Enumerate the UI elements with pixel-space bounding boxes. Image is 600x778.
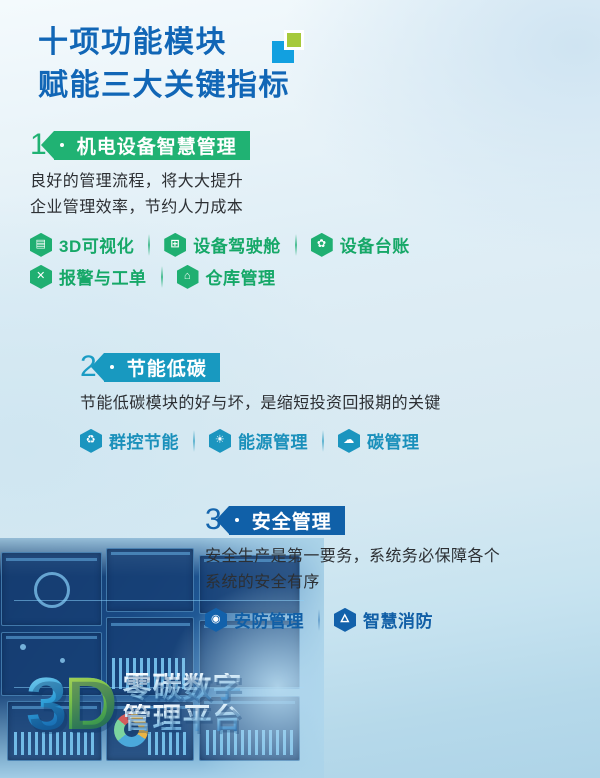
energy-bulb-icon: ☀: [209, 429, 231, 453]
feature-divider: [148, 234, 150, 256]
feature-item-3d-visualization[interactable]: ▤ 3D可视化: [30, 232, 134, 257]
section-2-body: 节能低碳模块的好与坏，是缩短投资回报期的关键: [80, 391, 441, 417]
section-3-body-line-1: 安全生产是第一要务，系统务必保障各个: [205, 544, 500, 570]
poster-canvas: 十项功能模块 赋能三大关键指标 1 机电设备智慧管理 良好的管理流程，将大大提升…: [0, 0, 600, 778]
section-3-title: 安全管理: [252, 507, 332, 534]
section-1-title: 机电设备智慧管理: [77, 132, 237, 159]
section-2-header: 2 节能低碳: [80, 352, 441, 382]
section-1-body-line-2: 企业管理效率，节约人力成本: [30, 195, 410, 221]
feature-label: 安防管理: [234, 607, 304, 632]
feature-item-carbon-management[interactable]: ☁ 碳管理: [338, 428, 420, 453]
security-shield-icon: ◉: [205, 608, 227, 632]
section-2: 2 节能低碳 节能低碳模块的好与坏，是缩短投资回报期的关键 ♻ 群控节能 ☀ 能…: [80, 352, 441, 457]
poster-header: 十项功能模块 赋能三大关键指标: [38, 22, 290, 107]
section-3-body-line-2: 系统的安全有序: [205, 570, 500, 596]
feature-label: 智慧消防: [363, 607, 433, 632]
alarm-workorder-icon: ✕: [30, 265, 52, 289]
feature-label: 仓库管理: [206, 264, 276, 289]
warehouse-icon: ⌂: [177, 265, 199, 289]
feature-divider: [318, 609, 320, 631]
section-2-features: ♻ 群控节能 ☀ 能源管理 ☁ 碳管理: [80, 425, 441, 457]
feature-label: 碳管理: [367, 428, 420, 453]
section-2-title: 节能低碳: [127, 354, 207, 381]
section-2-body-line-1: 节能低碳模块的好与坏，是缩短投资回报期的关键: [80, 391, 441, 417]
section-1-features: ▤ 3D可视化 ⊞ 设备驾驶舱 ✿ 设备台账 ✕ 报警与工单: [30, 229, 410, 293]
feature-label: 3D可视化: [59, 232, 134, 257]
feature-item-equipment-ledger[interactable]: ✿ 设备台账: [311, 232, 410, 257]
feature-row: ◉ 安防管理 🜂 智慧消防: [205, 604, 500, 636]
section-3: 3 安全管理 安全生产是第一要务，系统务必保障各个 系统的安全有序 ◉ 安防管理…: [205, 505, 500, 636]
slogan-line-1: 零碳数字: [123, 673, 243, 704]
slogan-line-2: 管理平台: [123, 704, 243, 735]
carbon-cloud-icon: ☁: [338, 429, 360, 453]
feature-label: 能源管理: [238, 428, 308, 453]
feature-label: 群控节能: [109, 428, 179, 453]
feature-divider: [322, 430, 324, 452]
brand-squares-logo-icon: [272, 30, 306, 64]
feature-item-smart-firefighting[interactable]: 🜂 智慧消防: [334, 607, 433, 632]
logo-letter-d: D: [64, 662, 114, 745]
3d-logo-mark: 3D: [26, 672, 115, 736]
cube-3d-icon: ▤: [30, 233, 52, 257]
feature-item-alarm-workorder[interactable]: ✕ 报警与工单: [30, 264, 147, 289]
logo-digit-3: 3: [26, 662, 64, 745]
feature-divider: [161, 266, 163, 288]
smart-firefighting-icon: 🜂: [334, 608, 356, 632]
section-1-body-line-1: 良好的管理流程，将大大提升: [30, 169, 410, 195]
feature-item-group-control[interactable]: ♻ 群控节能: [80, 428, 179, 453]
feature-row: ✕ 报警与工单 ⌂ 仓库管理: [30, 261, 410, 293]
title-line-2: 赋能三大关键指标: [38, 65, 290, 108]
feature-label: 报警与工单: [59, 264, 147, 289]
section-3-title-banner: 安全管理: [229, 506, 345, 535]
section-1-body: 良好的管理流程，将大大提升 企业管理效率，节约人力成本: [30, 169, 410, 221]
section-3-body: 安全生产是第一要务，系统务必保障各个 系统的安全有序: [205, 544, 500, 596]
feature-label: 设备驾驶舱: [193, 232, 281, 257]
feature-item-security-management[interactable]: ◉ 安防管理: [205, 607, 304, 632]
feature-item-equipment-cockpit[interactable]: ⊞ 设备驾驶舱: [164, 232, 281, 257]
section-2-title-banner: 节能低碳: [104, 353, 220, 382]
section-3-header: 3 安全管理: [205, 505, 500, 535]
title-line-1: 十项功能模块: [38, 22, 290, 65]
feature-item-warehouse[interactable]: ⌂ 仓库管理: [177, 264, 276, 289]
section-1: 1 机电设备智慧管理 良好的管理流程，将大大提升 企业管理效率，节约人力成本 ▤…: [30, 130, 410, 293]
footer-slogan: 零碳数字 管理平台: [123, 673, 243, 734]
feature-item-energy-management[interactable]: ☀ 能源管理: [209, 428, 308, 453]
footer-brand-lockup: 3D 零碳数字 管理平台: [26, 672, 243, 736]
feature-divider: [295, 234, 297, 256]
section-1-header: 1 机电设备智慧管理: [30, 130, 410, 160]
dashboard-cockpit-icon: ⊞: [164, 233, 186, 257]
feature-label: 设备台账: [340, 232, 410, 257]
section-1-title-banner: 机电设备智慧管理: [54, 131, 250, 160]
section-3-features: ◉ 安防管理 🜂 智慧消防: [205, 604, 500, 636]
feature-divider: [193, 430, 195, 452]
equipment-ledger-icon: ✿: [311, 233, 333, 257]
feature-row: ♻ 群控节能 ☀ 能源管理 ☁ 碳管理: [80, 425, 441, 457]
group-control-icon: ♻: [80, 429, 102, 453]
feature-row: ▤ 3D可视化 ⊞ 设备驾驶舱 ✿ 设备台账: [30, 229, 410, 261]
